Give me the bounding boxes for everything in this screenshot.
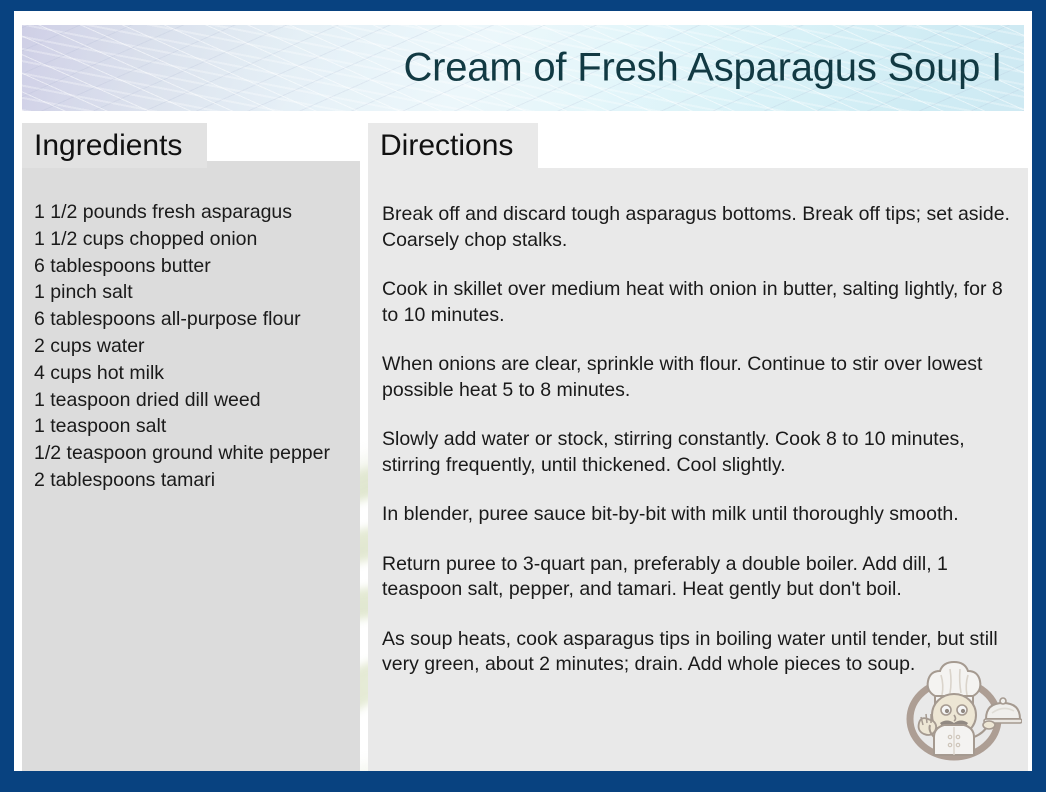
recipe-card: Cream of Fresh Asparagus Soup I: [0, 0, 1046, 792]
direction-step: In blender, puree sauce bit-by-bit with …: [382, 502, 1012, 528]
list-item: 1 teaspoon salt: [34, 413, 346, 440]
directions-column: Break off and discard tough asparagus bo…: [368, 123, 1028, 771]
list-item: 4 cups hot milk: [34, 360, 346, 387]
list-item: 1 pinch salt: [34, 279, 346, 306]
directions-heading-label: Directions: [380, 131, 513, 161]
ingredients-panel: 1 1/2 pounds fresh asparagus 1 1/2 cups …: [22, 161, 360, 771]
ingredients-header: Ingredients: [22, 123, 207, 168]
card-inner-surface: Cream of Fresh Asparagus Soup I: [14, 11, 1032, 771]
list-item: 1 1/2 cups chopped onion: [34, 226, 346, 253]
list-item: 1 teaspoon dried dill weed: [34, 387, 346, 414]
list-item: 2 cups water: [34, 333, 346, 360]
ingredients-column: 1 1/2 pounds fresh asparagus 1 1/2 cups …: [22, 123, 360, 771]
list-item: 2 tablespoons tamari: [34, 467, 346, 494]
direction-step: Cook in skillet over medium heat with on…: [382, 277, 1012, 328]
list-item: 1/2 teaspoon ground white pepper: [34, 440, 346, 467]
list-item: 1 1/2 pounds fresh asparagus: [34, 199, 346, 226]
list-item: 6 tablespoons all-purpose flour: [34, 306, 346, 333]
direction-step: Break off and discard tough asparagus bo…: [382, 202, 1012, 253]
ingredients-heading-label: Ingredients: [34, 131, 182, 161]
direction-step: As soup heats, cook asparagus tips in bo…: [382, 627, 1012, 678]
directions-header: Directions: [368, 123, 538, 168]
direction-step: Slowly add water or stock, stirring cons…: [382, 427, 1012, 478]
direction-step: When onions are clear, sprinkle with flo…: [382, 352, 1012, 403]
page-title: Cream of Fresh Asparagus Soup I: [403, 46, 1002, 91]
direction-step: Return puree to 3-quart pan, preferably …: [382, 552, 1012, 603]
list-item: 6 tablespoons butter: [34, 253, 346, 280]
directions-panel: Break off and discard tough asparagus bo…: [368, 168, 1028, 771]
title-banner: Cream of Fresh Asparagus Soup I: [22, 25, 1024, 111]
